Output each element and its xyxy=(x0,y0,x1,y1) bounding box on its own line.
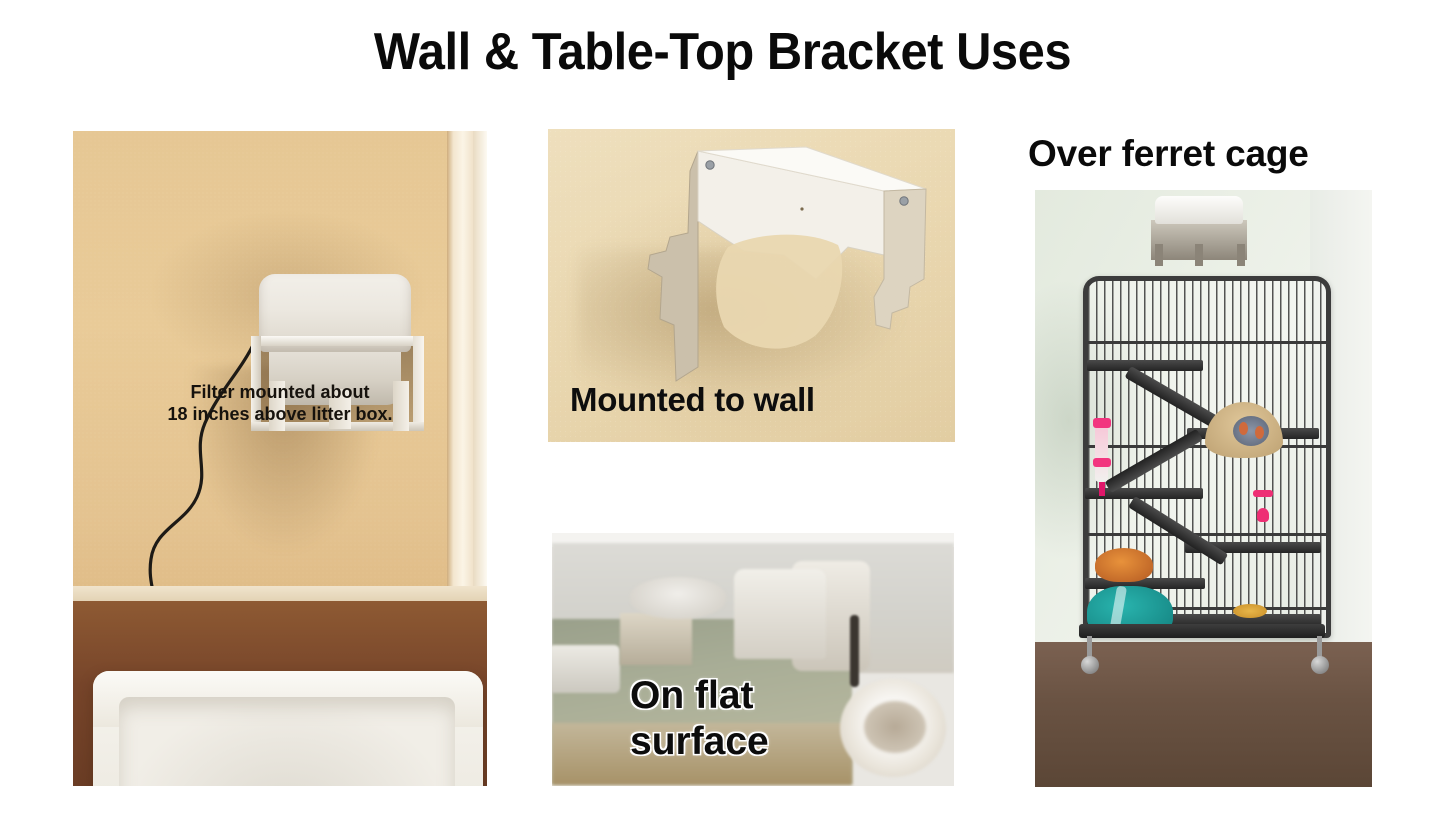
bracket-on-counter xyxy=(620,613,692,665)
filter-unit-secondary xyxy=(734,569,826,659)
water-bottle xyxy=(1095,426,1108,482)
bracket-leg-center xyxy=(1195,244,1203,266)
photo-caption: Filter mounted about 18 inches above lit… xyxy=(73,381,487,425)
toilet-bowl-opening xyxy=(864,701,926,753)
water-bottle-band xyxy=(1093,458,1111,467)
photo-caption: On flat surface xyxy=(630,673,769,765)
cage-crossbar-1 xyxy=(1088,341,1326,344)
caption-line-1: On flat xyxy=(630,673,769,719)
cage-base-frame xyxy=(1079,624,1325,638)
cage-pink-clip xyxy=(1253,490,1273,497)
plunger-handle xyxy=(850,615,859,687)
water-bottle-spout xyxy=(1099,482,1105,496)
soap-tray xyxy=(552,645,620,693)
caption-line-1: Filter mounted about xyxy=(73,381,487,403)
photo-bracket-on-flat-surface: On flat surface xyxy=(552,533,954,786)
plush-toy xyxy=(1095,548,1153,582)
caster-wheel-right xyxy=(1311,656,1329,674)
caption-line-2: surface xyxy=(630,719,769,765)
bracket-leg-right xyxy=(1237,244,1245,266)
over-ferret-cage-label: Over ferret cage xyxy=(1028,133,1309,175)
photo-caption: Mounted to wall xyxy=(570,381,815,419)
photo-bracket-mounted-to-wall: Mounted to wall xyxy=(548,129,955,442)
litter-box-interior xyxy=(119,697,455,786)
cage-crossbar-3 xyxy=(1088,533,1326,536)
filter-unit xyxy=(1155,196,1243,224)
photo-over-ferret-cage xyxy=(1035,190,1372,787)
page-title: Wall & Table-Top Bracket Uses xyxy=(43,22,1401,82)
caption-line-2: 18 inches above litter box. xyxy=(73,403,487,425)
cage-pink-spout xyxy=(1257,508,1269,522)
food-piece xyxy=(1233,604,1267,618)
bracket-shelf-plate xyxy=(251,336,423,346)
caster-wheel-left xyxy=(1081,656,1099,674)
cage-shelf-1 xyxy=(1087,360,1203,371)
water-bottle-cap xyxy=(1093,418,1111,428)
filter-unit-top xyxy=(630,577,726,619)
tent-toy-2 xyxy=(1255,426,1264,439)
tent-toy-1 xyxy=(1239,422,1248,435)
bracket-leg-left xyxy=(1155,244,1163,266)
photo-filter-above-litterbox: Filter mounted about 18 inches above lit… xyxy=(73,131,487,786)
